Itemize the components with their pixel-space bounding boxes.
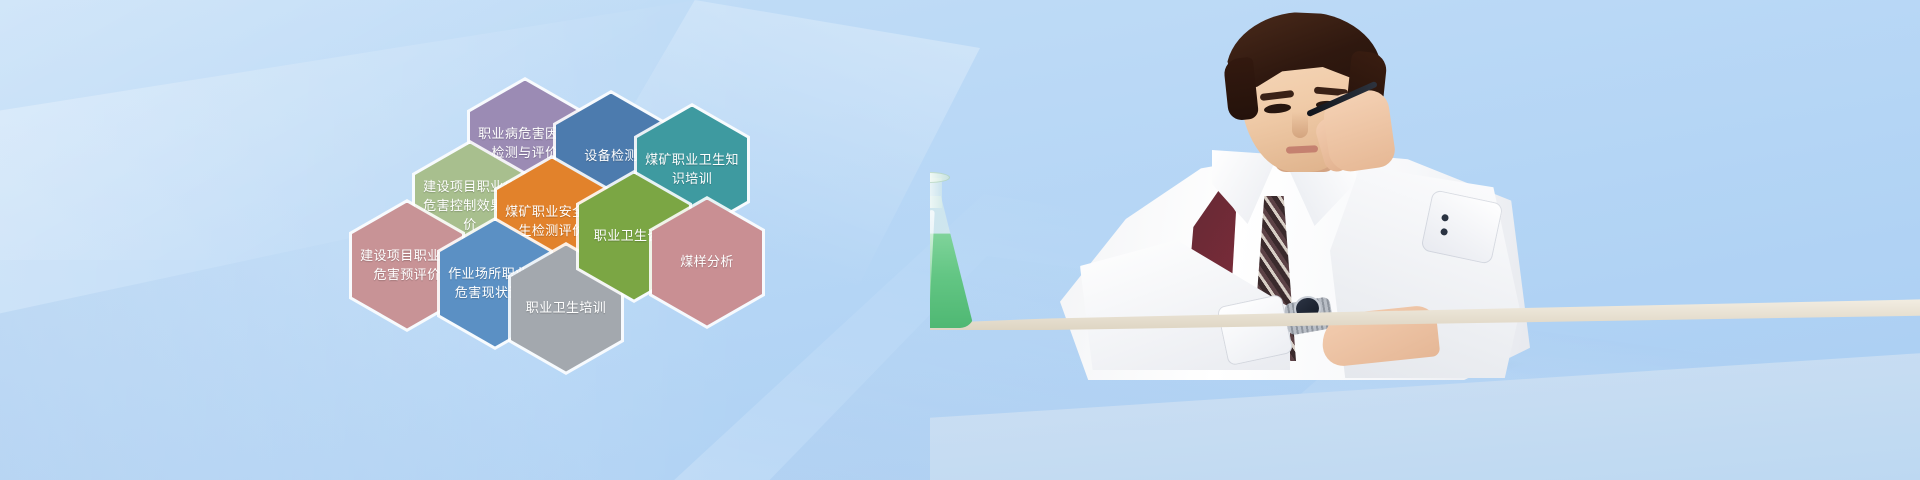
service-scope-banner: 职业病危害因素检测与评价 建设项目职业病危害控制效果评价 建设项目职业病危害预评… bbox=[0, 0, 1920, 480]
erlenmeyer-flask-lip bbox=[930, 172, 950, 183]
nose bbox=[1292, 112, 1308, 138]
cuff-button-lower bbox=[1440, 228, 1448, 236]
erlenmeyer-flask-body bbox=[930, 196, 974, 328]
hex-label-coal-sample-analysis: 煤样分析 bbox=[652, 200, 762, 326]
banner-photo-thinking-businessman bbox=[930, 0, 1920, 480]
hair-side-left bbox=[1223, 57, 1259, 122]
service-hexagon-cluster: 职业病危害因素检测与评价 建设项目职业病危害控制效果评价 建设项目职业病危害预评… bbox=[0, 0, 820, 480]
cuff-button-upper bbox=[1441, 214, 1449, 222]
